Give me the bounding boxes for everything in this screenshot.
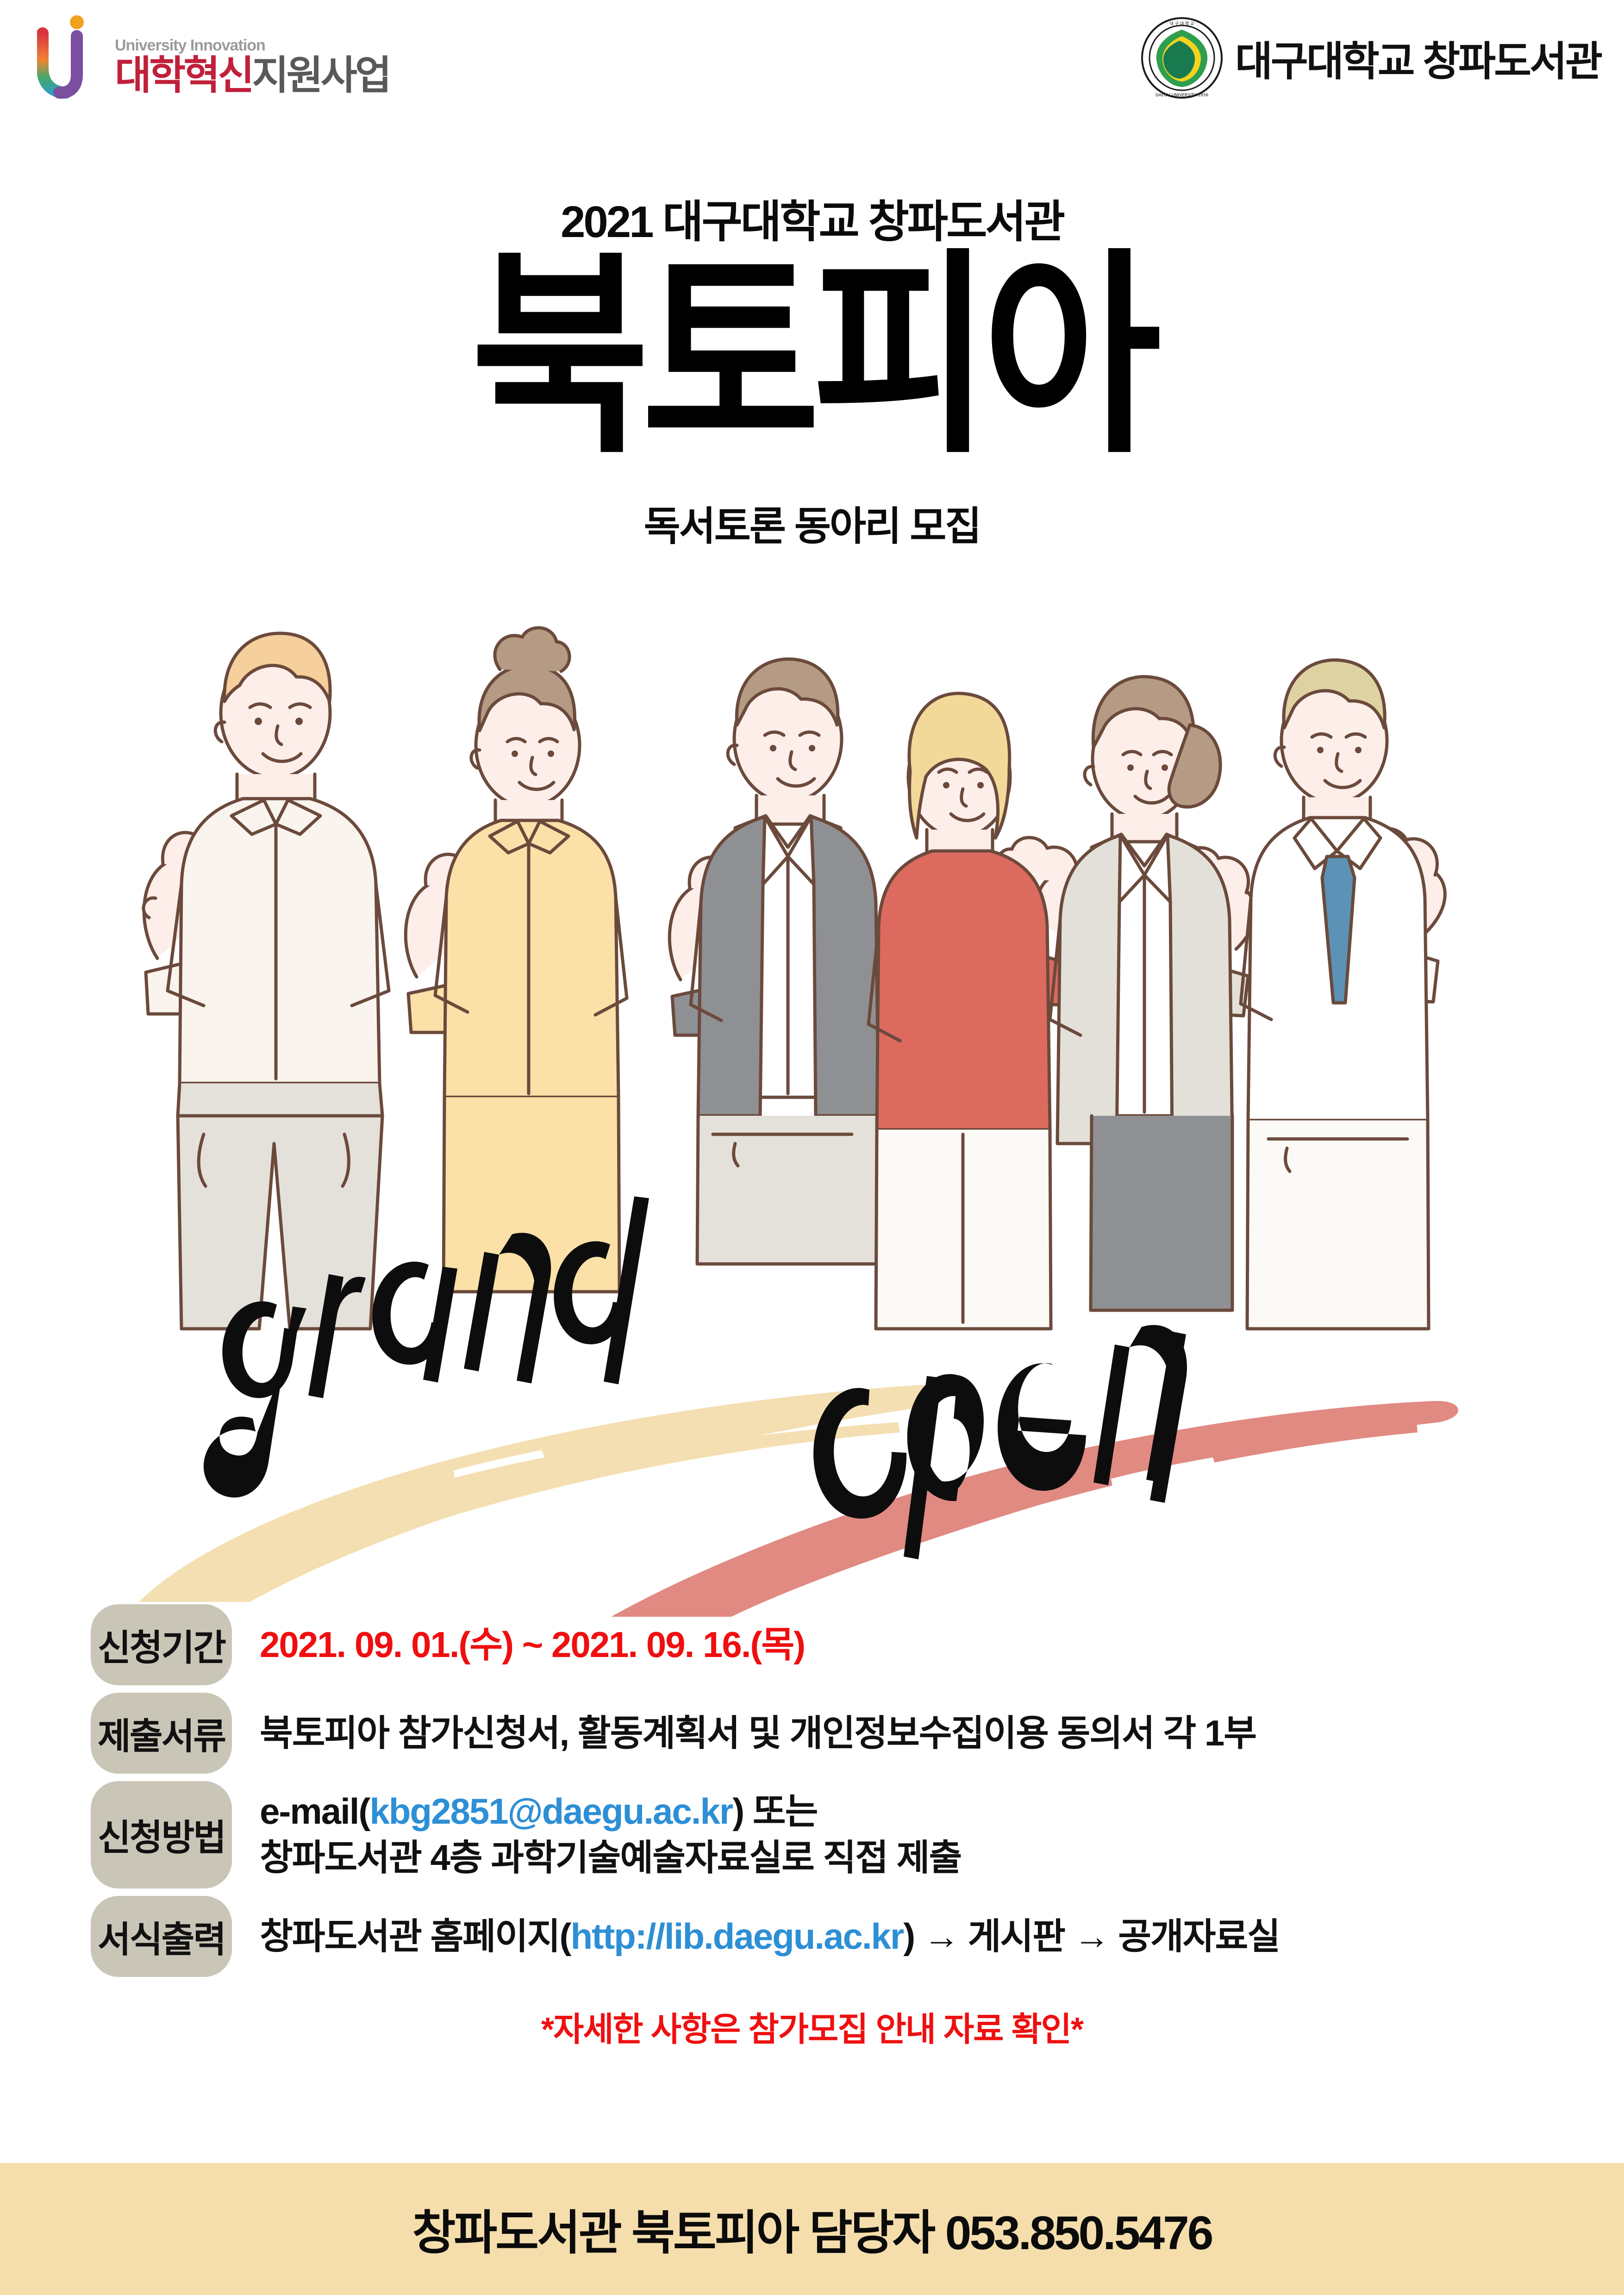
university-innovation-name: 대학혁신지원사업 — [115, 56, 389, 95]
info-row-label: 제출서류 — [98, 1707, 225, 1759]
email-prefix: e-mail( — [260, 1791, 369, 1832]
footer-contact-text: 창파도서관 북토피아 담당자 053.850.5476 — [412, 2195, 1212, 2263]
info-row-value: 2021. 09. 01.(수) ~ 2021. 09. 16.(목) — [260, 1622, 805, 1668]
info-row: 신청방법 e-mail(kbg2851@daegu.ac.kr) 또는 창파도서… — [0, 1781, 1624, 1889]
application-period-text: 2021. 09. 01.(수) ~ 2021. 09. 16.(목) — [260, 1622, 805, 1668]
footer-contact-band: 창파도서관 북토피아 담당자 053.850.5476 — [0, 2163, 1624, 2295]
title-block: 2021 대구대학교 창파도서관 북토피아 독서토론 동아리 모집 — [0, 199, 1624, 551]
homepage-link[interactable]: http://lib.daegu.ac.kr — [571, 1916, 904, 1957]
university-innovation-logo: University Innovation 대학혁신지원사업 — [37, 14, 389, 102]
uj-logo-mark-icon — [37, 14, 106, 102]
application-method-line-1: e-mail(kbg2851@daegu.ac.kr) 또는 — [260, 1788, 961, 1835]
info-row-value: 북토피아 참가신청서, 활동계획서 및 개인정보수집이용 동의서 각 1부 — [260, 1710, 1256, 1757]
info-row-label-pill: 제출서류 — [91, 1693, 232, 1774]
detail-note: *자세한 사항은 참가모집 안내 자료 확인* — [0, 2002, 1624, 2051]
info-row: 제출서류 북토피아 참가신청서, 활동계획서 및 개인정보수집이용 동의서 각 … — [0, 1693, 1624, 1774]
svg-text:· 대 구 대 학 교 ·: · 대 구 대 학 교 · — [1167, 21, 1197, 26]
info-row: 서식출력 창파도서관 홈페이지(http://lib.daegu.ac.kr) … — [0, 1896, 1624, 1977]
library-logo: · 대 구 대 학 교 · DAEGU UNIVERSITY 1956 대구대학… — [1141, 17, 1601, 99]
info-row-value: 창파도서관 홈페이지(http://lib.daegu.ac.kr) → 게시판… — [260, 1914, 1280, 1960]
email-link[interactable]: kbg2851@daegu.ac.kr — [369, 1791, 732, 1832]
info-row-label: 신청기간 — [98, 1619, 225, 1671]
homepage-path: ) → 게시판 → 공개자료실 — [903, 1916, 1280, 1957]
info-section: 신청기간 2021. 09. 01.(수) ~ 2021. 09. 16.(목)… — [0, 1604, 1624, 2051]
university-innovation-tagline: University Innovation — [115, 37, 389, 55]
email-suffix: ) 또는 — [732, 1791, 817, 1832]
info-row-label-pill: 신청방법 — [91, 1781, 232, 1889]
ui-name-red: 대학혁신 — [115, 53, 252, 98]
daegu-university-seal-icon: · 대 구 대 학 교 · DAEGU UNIVERSITY 1956 — [1141, 17, 1223, 99]
logo-bar: University Innovation 대학혁신지원사업 · 대 구 대 학… — [0, 0, 1624, 130]
svg-text:DAEGU UNIVERSITY 1956: DAEGU UNIVERSITY 1956 — [1156, 93, 1209, 98]
info-row-label-pill: 서식출력 — [91, 1896, 232, 1977]
info-row-label: 서식출력 — [98, 1911, 225, 1963]
page-title: 북토피아 — [0, 253, 1624, 460]
info-row-label: 신청방법 — [98, 1809, 225, 1861]
form-download-line: 창파도서관 홈페이지(http://lib.daegu.ac.kr) → 게시판… — [260, 1914, 1280, 1960]
application-method-line-2: 창파도서관 4층 과학기술예술자료실로 직접 제출 — [260, 1835, 961, 1881]
info-row-label-pill: 신청기간 — [91, 1604, 232, 1685]
title-subtitle: 독서토론 동아리 모집 — [0, 494, 1624, 551]
info-row-value: e-mail(kbg2851@daegu.ac.kr) 또는 창파도서관 4층 … — [260, 1788, 961, 1881]
required-documents-text: 북토피아 참가신청서, 활동계획서 및 개인정보수집이용 동의서 각 1부 — [260, 1710, 1256, 1757]
ui-name-gray: 지원사업 — [252, 53, 389, 98]
library-name: 대구대학교 창파도서관 — [1235, 29, 1601, 88]
homepage-prefix: 창파도서관 홈페이지( — [260, 1916, 571, 1957]
grand-open-hero — [0, 1194, 1624, 1620]
info-row: 신청기간 2021. 09. 01.(수) ~ 2021. 09. 16.(목) — [0, 1604, 1624, 1685]
